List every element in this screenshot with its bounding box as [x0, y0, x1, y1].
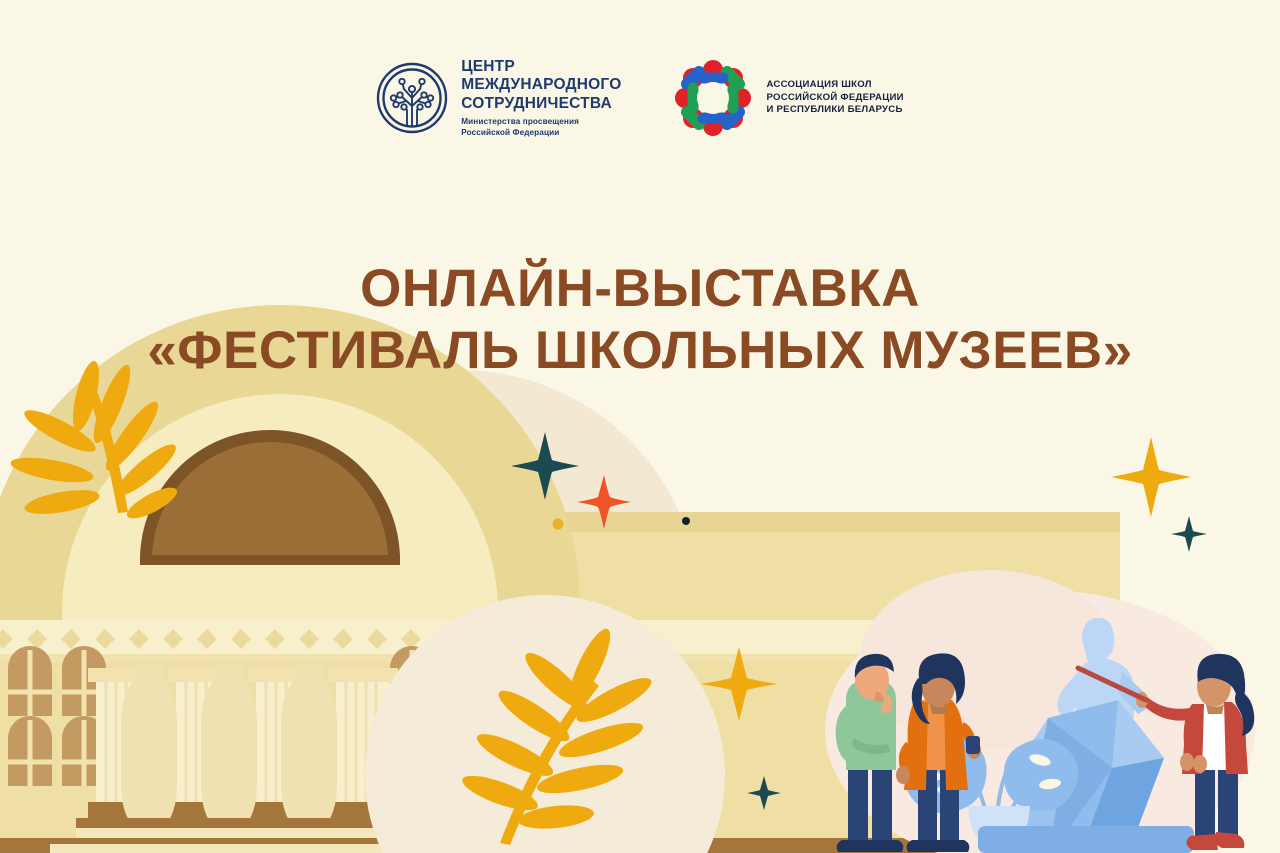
logo-assoc-line2: РОССИЙСКОЙ ФЕДЕРАЦИИ: [766, 92, 903, 105]
logo-assoc-line1: АССОЦИАЦИЯ ШКОЛ: [766, 79, 903, 92]
logo-association-of-schools: АССОЦИАЦИЯ ШКОЛ РОССИЙСКОЙ ФЕДЕРАЦИИ И Р…: [673, 58, 903, 138]
tree-in-circle-logo-icon: [376, 62, 448, 134]
logo-center-international-cooperation: ЦЕНТР МЕЖДУНАРОДНОГО СОТРУДНИЧЕСТВА Мини…: [376, 58, 621, 139]
logo-cmc-line2: МЕЖДУНАРОДНОГО: [461, 76, 621, 94]
logo-bar: ЦЕНТР МЕЖДУНАРОДНОГО СОТРУДНИЧЕСТВА Мини…: [0, 58, 1280, 139]
statue-pedestal: [978, 826, 1194, 853]
dot-yellow: [553, 519, 564, 530]
building-columns: [88, 665, 398, 843]
poster-title: ОНЛАЙН-ВЫСТАВКА «ФЕСТИВАЛЬ ШКОЛЬНЫХ МУЗЕ…: [0, 258, 1280, 382]
logo-cmc-sub1: Министерства просвещения: [461, 117, 621, 128]
logo-cmc-line1: ЦЕНТР: [461, 58, 621, 76]
logo-assoc-line3: И РЕСПУБЛИКИ БЕЛАРУСЬ: [766, 104, 903, 117]
logo-cmc-sub2: Российской Федерации: [461, 128, 621, 139]
title-line-1: ОНЛАЙН-ВЫСТАВКА: [0, 258, 1280, 320]
title-line-2: «ФЕСТИВАЛЬ ШКОЛЬНЫХ МУЗЕЕВ»: [0, 320, 1280, 382]
logo-cmc-line3: СОТРУДНИЧЕСТВА: [461, 95, 621, 113]
dot-dark: [682, 517, 690, 525]
poster-canvas: ЦЕНТР МЕЖДУНАРОДНОГО СОТРУДНИЧЕСТВА Мини…: [0, 0, 1280, 853]
octagon-ring-logo-icon: [673, 58, 753, 138]
